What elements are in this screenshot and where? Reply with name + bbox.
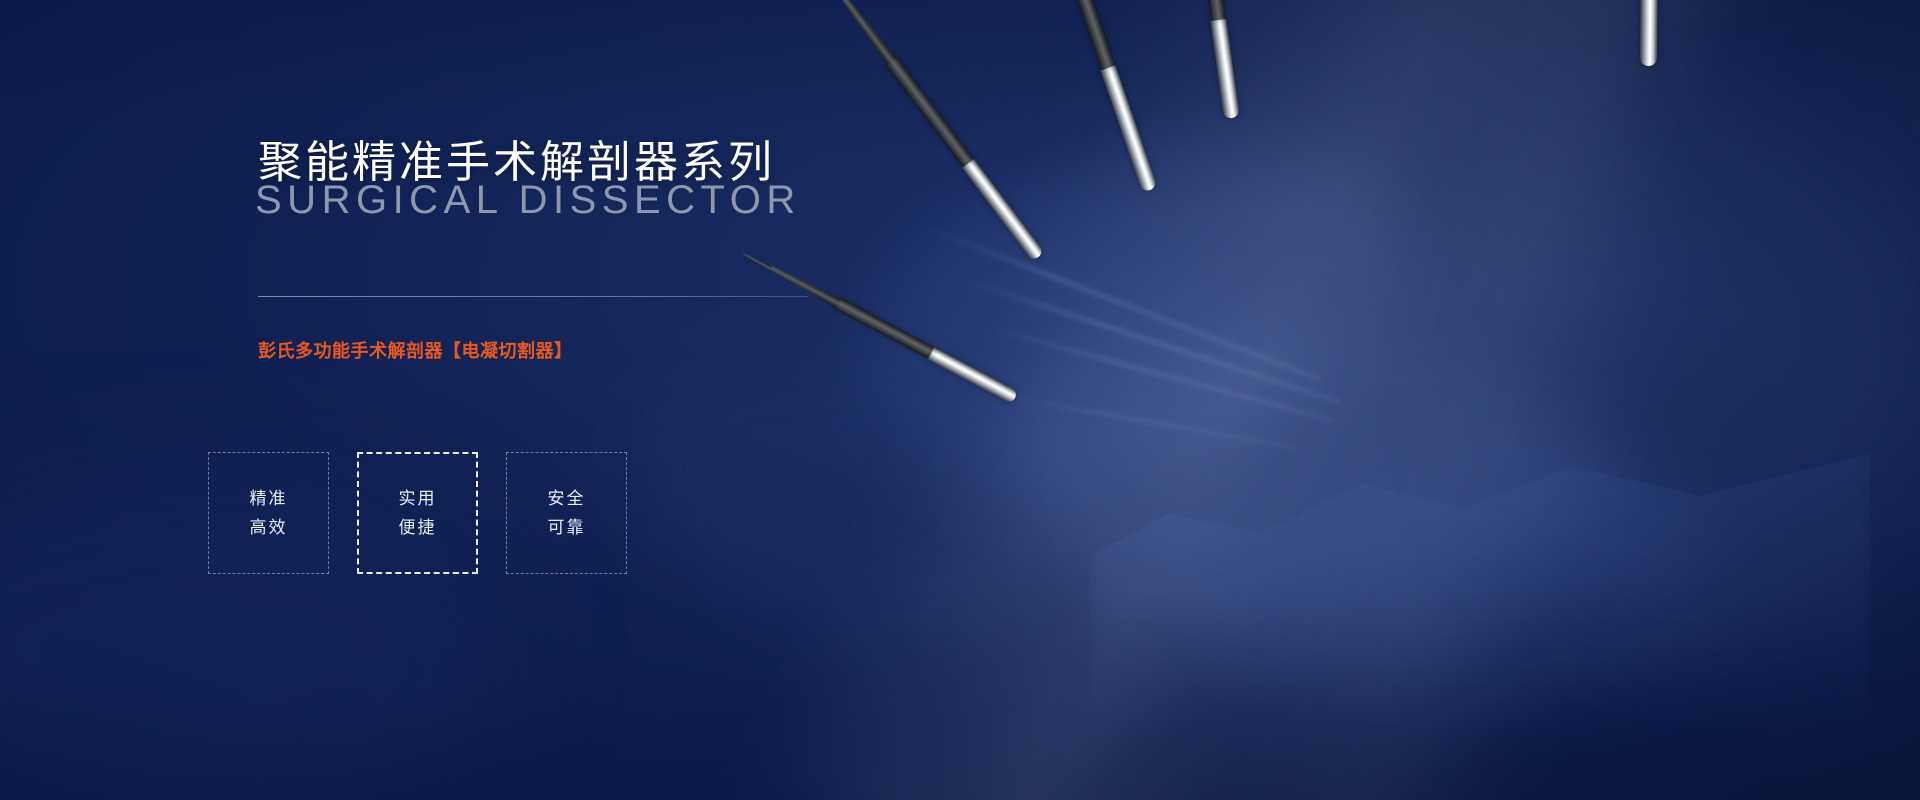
hero-banner: 聚能精准手术解剖器系列 SURGICAL DISSECTOR 彭氏多功能手术解剖…: [0, 0, 1920, 800]
feature-line-2: 高效: [250, 519, 288, 536]
banner-content: 聚能精准手术解剖器系列 SURGICAL DISSECTOR 彭氏多功能手术解剖…: [258, 0, 1018, 800]
feature-line-1: 精准: [250, 490, 288, 507]
instrument-handle: [1210, 18, 1240, 119]
feature-box-group: 精准 高效 实用 便捷 安全 可靠: [208, 452, 627, 574]
feature-box-precision[interactable]: 精准 高效: [208, 452, 329, 574]
instrument-handle: [1640, 0, 1658, 66]
feature-line-2: 可靠: [548, 519, 586, 536]
feature-line-1: 安全: [548, 490, 586, 507]
feature-line-1: 实用: [399, 490, 437, 507]
instrument-shaft: [1185, 0, 1226, 21]
feature-box-safety[interactable]: 安全 可靠: [506, 452, 627, 574]
banner-subtitle: 彭氏多功能手术解剖器【电凝切割器】: [258, 337, 573, 363]
feature-line-2: 便捷: [399, 519, 437, 536]
instrument-shaft: [1056, 0, 1116, 70]
title-divider: [258, 296, 808, 297]
instrument-3: [1142, 187, 1157, 192]
instrument-4: [1224, 117, 1240, 119]
feature-box-practical[interactable]: 实用 便捷: [357, 452, 478, 574]
instrument-2: [1033, 252, 1045, 261]
instrument-handle: [1100, 64, 1157, 192]
banner-title-english: SURGICAL DISSECTOR: [255, 178, 801, 223]
